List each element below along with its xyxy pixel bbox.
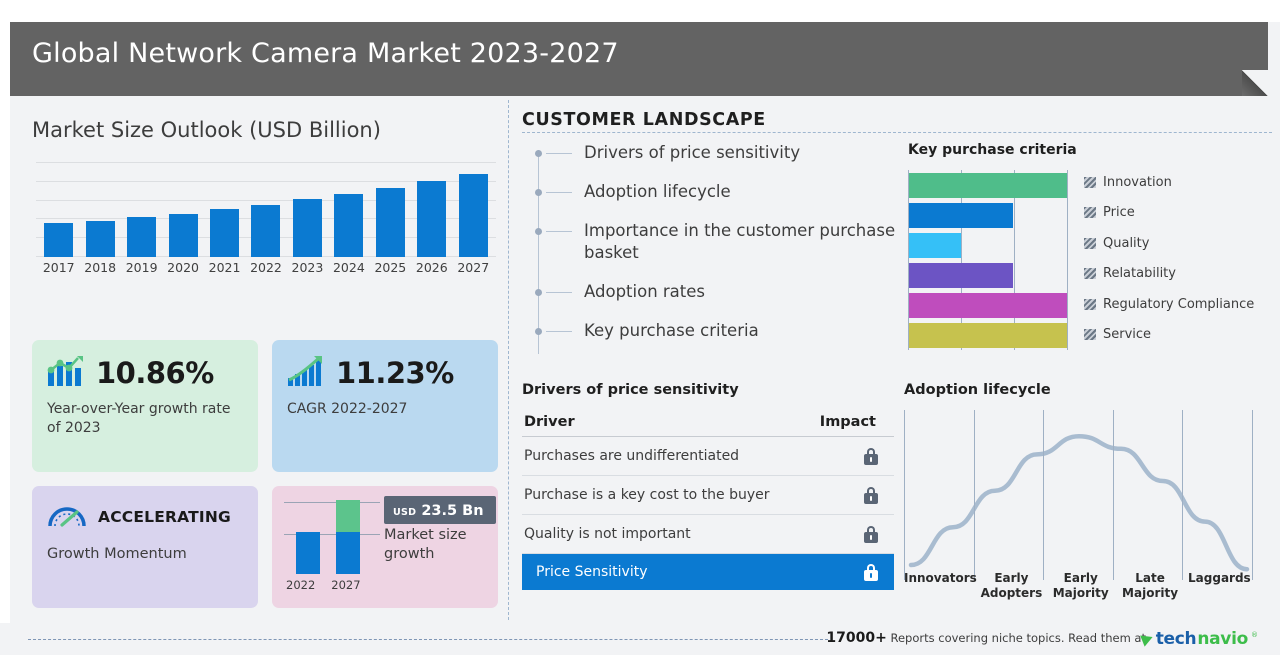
market-size-bar-chart — [36, 162, 496, 257]
corner-fold-decoration — [1242, 70, 1268, 96]
bar-slot — [162, 162, 203, 257]
drivers-title: Drivers of price sensitivity — [522, 382, 894, 398]
bullet-dot-icon — [535, 228, 542, 235]
alc-label-late-majority: LateMajority — [1115, 571, 1184, 600]
market-size-bar-2021 — [210, 209, 239, 257]
x-tick-2025: 2025 — [370, 260, 411, 275]
kpi-card-yoy: 10.86% Year-over-Year growth rate of 202… — [32, 340, 258, 472]
cl-item-label: Adoption rates — [584, 281, 898, 304]
kpi-card-momentum-value: ACCELERATING — [98, 508, 231, 526]
kpi-card-yoy-value: 10.86% — [96, 356, 214, 390]
kpc-legend: InnovationPriceQualityRelatabilityRegula… — [1084, 167, 1272, 350]
alc-divider-line — [904, 410, 905, 580]
mini-x-axis: 2022 2027 — [284, 578, 380, 592]
adoption-lifecycle-chart: Adoption lifecycle InnovatorsEarlyAdopte… — [904, 382, 1272, 600]
kpc-legend-label: Relatability — [1103, 266, 1176, 281]
alc-label-early-majority: EarlyMajority — [1046, 571, 1115, 600]
kpc-bar-quality — [909, 233, 961, 258]
market-size-bar-2024 — [334, 194, 363, 257]
trademark-icon: ® — [1251, 631, 1258, 639]
left-margin — [0, 22, 10, 623]
bar-arrow-growth-icon — [286, 354, 326, 392]
kpc-legend-item: Quality — [1084, 228, 1272, 259]
market-size-bar-2027 — [459, 174, 488, 257]
kpc-legend-item: Innovation — [1084, 167, 1272, 198]
bullet-dot-icon — [535, 150, 542, 157]
bar-slot — [204, 162, 245, 257]
bar-slot — [328, 162, 369, 257]
driver-name: Purchase is a key cost to the buyer — [524, 487, 770, 503]
market-size-bar-2022 — [251, 205, 280, 257]
table-row[interactable]: Quality is not important — [522, 515, 894, 554]
kpc-title: Key purchase criteria — [908, 142, 1272, 158]
hatch-swatch-icon — [1084, 268, 1096, 279]
bar-slot — [370, 162, 411, 257]
lock-icon — [864, 526, 878, 543]
speedometer-icon — [46, 500, 88, 534]
market-size-bar-2025 — [376, 188, 405, 257]
kpi-cards: 10.86% Year-over-Year growth rate of 202… — [32, 340, 498, 608]
kpi-card-cagr: 11.23% CAGR 2022-2027 — [272, 340, 498, 472]
table-row[interactable]: Price Sensitivity — [522, 554, 894, 590]
cl-item-adoption-lifecycle[interactable]: Adoption lifecycle — [538, 181, 898, 204]
connector-line — [546, 231, 572, 232]
alc-divider-line — [1252, 410, 1253, 580]
market-size-bar-2018 — [86, 221, 115, 257]
cl-item-adoption-rates[interactable]: Adoption rates — [538, 281, 898, 304]
alc-title: Adoption lifecycle — [904, 382, 1272, 398]
footer-text: 17000+ Reports covering niche topics. Re… — [826, 630, 1146, 646]
market-size-bar-2019 — [127, 217, 156, 257]
drivers-table-header: Driver Impact — [522, 414, 894, 437]
market-size-bar-2017 — [44, 223, 73, 257]
alc-divider-line — [1113, 410, 1114, 580]
kpi-card-momentum-caption: Growth Momentum — [32, 534, 258, 562]
x-tick-2020: 2020 — [162, 260, 203, 275]
alc-body: InnovatorsEarlyAdoptersEarlyMajorityLate… — [904, 410, 1254, 600]
connector-line — [546, 153, 572, 154]
cl-item-drivers[interactable]: Drivers of price sensitivity — [538, 142, 898, 165]
kpi-card-cagr-value: 11.23% — [336, 356, 454, 390]
x-tick-2027: 2027 — [453, 260, 494, 275]
mini-bar-2027-growth — [336, 500, 360, 532]
bar-slot — [287, 162, 328, 257]
alc-category-labels: InnovatorsEarlyAdoptersEarlyMajorityLate… — [904, 571, 1254, 600]
mini-bars — [292, 500, 374, 574]
x-tick-2026: 2026 — [411, 260, 452, 275]
kpc-legend-label: Service — [1103, 327, 1151, 342]
alc-label-laggards: Laggards — [1185, 571, 1254, 600]
kpi-card-cagr-caption: CAGR 2022-2027 — [272, 392, 498, 419]
driver-name: Quality is not important — [524, 526, 691, 542]
kpc-legend-label: Regulatory Compliance — [1103, 297, 1254, 312]
page-header: Global Network Camera Market 2023-2027 — [10, 22, 1268, 96]
key-purchase-criteria-chart: Key purchase criteria InnovationPriceQua… — [904, 142, 1272, 350]
drivers-table: Drivers of price sensitivity Driver Impa… — [522, 382, 894, 590]
lock-icon — [864, 487, 878, 504]
column-divider — [508, 100, 509, 620]
customer-landscape-panel: CUSTOMER LANDSCAPE Drivers of price sens… — [516, 100, 1272, 620]
infographic-page: Global Network Camera Market 2023-2027 M… — [0, 0, 1280, 670]
kpc-legend-item: Service — [1084, 320, 1272, 351]
alc-label-early-adopters: EarlyAdopters — [977, 571, 1046, 600]
footer-report-count: 17000+ — [826, 630, 886, 646]
hatch-swatch-icon — [1084, 299, 1096, 310]
footer-tagline: Reports covering niche topics. Read them… — [890, 631, 1146, 645]
kpc-legend-item: Regulatory Compliance — [1084, 289, 1272, 320]
bar-slot — [121, 162, 162, 257]
x-tick-2021: 2021 — [204, 260, 245, 275]
top-margin — [0, 0, 1280, 22]
cl-item-key-purchase-criteria[interactable]: Key purchase criteria — [538, 320, 898, 343]
bottom-margin — [0, 655, 1280, 670]
market-size-title: Market Size Outlook (USD Billion) — [32, 118, 381, 142]
bar-line-growth-icon — [46, 354, 86, 392]
cl-item-label: Adoption lifecycle — [584, 181, 898, 204]
kpc-plot-area — [908, 170, 1068, 350]
logo-text-tech: tech — [1156, 629, 1197, 649]
bar-slot — [38, 162, 79, 257]
market-growth-currency: USD — [393, 507, 416, 518]
kpc-bar-price — [909, 203, 1013, 228]
kpc-bar-service — [909, 323, 1067, 348]
mini-x-label-2027: 2027 — [331, 578, 360, 592]
market-size-panel: Market Size Outlook (USD Billion) 201720… — [10, 100, 508, 620]
market-size-bar-2020 — [169, 214, 198, 257]
kpc-bar-relatability — [909, 263, 1013, 288]
bar-slot — [245, 162, 286, 257]
hatch-swatch-icon — [1084, 238, 1096, 249]
market-size-bar-2023 — [293, 199, 322, 257]
alc-divider-line — [1182, 410, 1183, 580]
alc-label-innovators: Innovators — [904, 571, 977, 600]
customer-landscape-list: Drivers of price sensitivity Adoption li… — [538, 142, 898, 359]
bullet-dot-icon — [535, 328, 542, 335]
kpc-gridline — [1067, 170, 1068, 350]
alc-curve — [904, 410, 1254, 580]
x-tick-2017: 2017 — [38, 260, 79, 275]
bar-slot — [411, 162, 452, 257]
market-growth-caption: Market size growth — [384, 526, 498, 564]
kpc-body: InnovationPriceQualityRelatabilityRegula… — [904, 170, 1272, 350]
technavio-arrow-icon — [1140, 631, 1155, 646]
kpc-legend-item: Relatability — [1084, 259, 1272, 290]
kpi-card-momentum: ACCELERATING Growth Momentum — [32, 486, 258, 608]
table-row[interactable]: Purchase is a key cost to the buyer — [522, 476, 894, 515]
kpc-legend-item: Price — [1084, 198, 1272, 229]
x-tick-2024: 2024 — [328, 260, 369, 275]
market-size-x-axis: 2017201820192020202120222023202420252026… — [38, 260, 494, 275]
kpc-legend-label: Quality — [1103, 236, 1149, 251]
customer-landscape-title: CUSTOMER LANDSCAPE — [522, 110, 766, 130]
driver-name: Price Sensitivity — [536, 564, 648, 580]
technavio-logo[interactable]: tech navio ® — [1142, 629, 1258, 649]
logo-text-navio: navio — [1197, 629, 1248, 649]
market-growth-mini-chart: 2022 2027 — [284, 500, 380, 592]
x-tick-2019: 2019 — [121, 260, 162, 275]
drivers-table-rows: Purchases are undifferentiatedPurchase i… — [522, 437, 894, 590]
hatch-swatch-icon — [1084, 207, 1096, 218]
cl-item-importance[interactable]: Importance in the customer purchase bask… — [538, 220, 898, 266]
market-size-bars — [38, 162, 494, 257]
kpc-legend-label: Innovation — [1103, 175, 1172, 190]
x-tick-2023: 2023 — [287, 260, 328, 275]
footer-dashed-line — [28, 639, 828, 640]
driver-name: Purchases are undifferentiated — [524, 448, 739, 464]
table-row[interactable]: Purchases are undifferentiated — [522, 437, 894, 476]
hatch-swatch-icon — [1084, 329, 1096, 340]
lock-icon — [864, 564, 878, 581]
kpi-card-yoy-row: 10.86% — [32, 340, 258, 392]
kpc-bar-innovation — [909, 173, 1067, 198]
kpi-card-market-growth: 2022 2027 USD23.5 Bn Market size growth — [272, 486, 498, 608]
market-size-bar-2026 — [417, 181, 446, 257]
bar-slot — [79, 162, 120, 257]
lock-icon — [864, 448, 878, 465]
cl-item-label: Key purchase criteria — [584, 320, 898, 343]
connector-line — [546, 331, 572, 332]
connector-line — [546, 192, 572, 193]
kpc-bar-regulatory-compliance — [909, 293, 1067, 318]
connector-line — [546, 292, 572, 293]
page-title: Global Network Camera Market 2023-2027 — [32, 38, 619, 69]
cl-item-label: Importance in the customer purchase bask… — [584, 220, 898, 266]
mini-bar-2022 — [296, 532, 320, 574]
kpc-legend-label: Price — [1103, 205, 1135, 220]
x-tick-2022: 2022 — [245, 260, 286, 275]
cl-item-label: Drivers of price sensitivity — [584, 142, 898, 165]
x-tick-2018: 2018 — [79, 260, 120, 275]
market-growth-badge: USD23.5 Bn — [384, 496, 496, 524]
alc-divider-line — [974, 410, 975, 580]
kpi-card-momentum-row: ACCELERATING — [32, 486, 258, 534]
customer-landscape-underline — [522, 132, 1272, 133]
kpi-card-cagr-row: 11.23% — [272, 340, 498, 392]
hatch-swatch-icon — [1084, 177, 1096, 188]
mini-bar-2027-base — [336, 532, 360, 574]
column-header-impact: Impact — [820, 414, 876, 430]
bullet-dot-icon — [535, 289, 542, 296]
kpi-card-yoy-caption: Year-over-Year growth rate of 2023 — [32, 392, 258, 438]
bullet-dot-icon — [535, 189, 542, 196]
alc-divider-line — [1043, 410, 1044, 580]
page-footer: 17000+ Reports covering niche topics. Re… — [10, 625, 1268, 655]
bar-slot — [453, 162, 494, 257]
mini-x-label-2022: 2022 — [286, 578, 315, 592]
market-growth-amount: 23.5 Bn — [421, 503, 483, 519]
column-header-driver: Driver — [524, 414, 575, 430]
